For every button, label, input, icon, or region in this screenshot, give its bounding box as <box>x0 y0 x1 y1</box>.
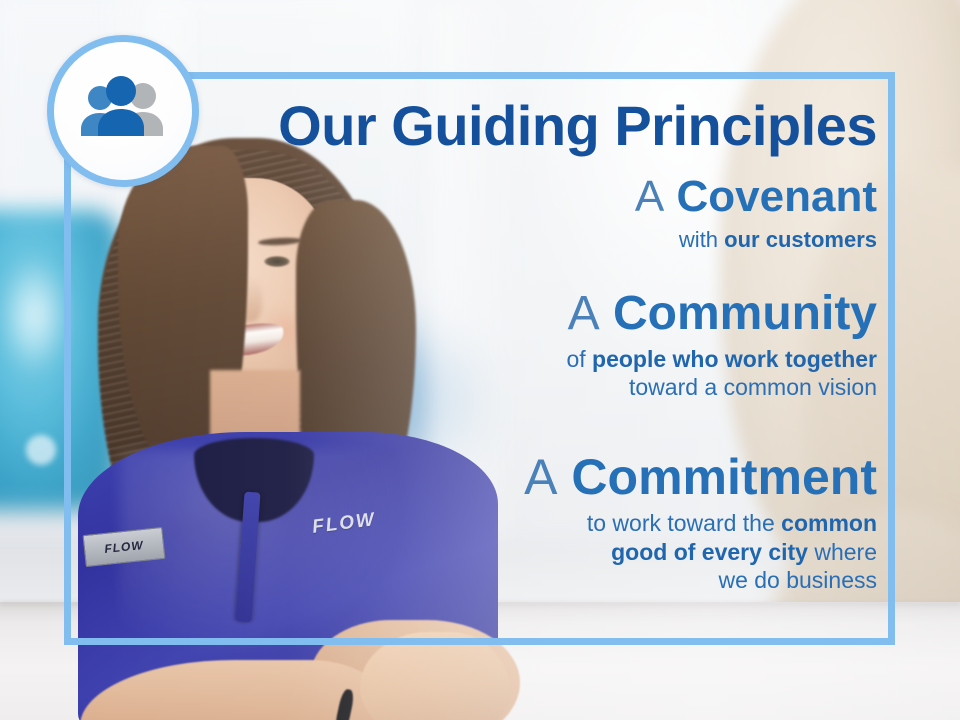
subtext-span: with <box>679 227 724 252</box>
principle-article: A <box>524 449 557 505</box>
subtext-span: to work toward the <box>587 510 781 536</box>
principle-block-commitment: A Commitment to work toward the common g… <box>524 452 877 595</box>
principle-block-community: A Community of people who work together … <box>566 290 877 402</box>
principle-article: A <box>568 287 600 340</box>
subtext-span: where <box>808 539 877 565</box>
subtext-line: with our customers <box>635 226 877 253</box>
page-title: Our Guiding Principles <box>64 98 877 154</box>
subtext-line: we do business <box>524 566 877 595</box>
principle-word: Community <box>613 287 877 340</box>
principle-subtext: with our customers <box>635 226 877 253</box>
subtext-span-bold: common <box>781 510 877 536</box>
subtext-line: of people who work together <box>566 345 877 374</box>
subtext-line: toward a common vision <box>566 373 877 402</box>
principle-heading: A Community <box>566 290 877 339</box>
employee-hands <box>360 632 510 720</box>
subtext-line: to work toward the common <box>524 509 877 538</box>
guiding-principles-graphic: FLOW FLOW <box>0 0 960 720</box>
principle-subtext: of people who work together toward a com… <box>566 345 877 402</box>
principle-block-covenant: A Covenant with our customers <box>635 175 877 253</box>
subtext-span-bold: our customers <box>724 227 877 252</box>
text-content: Our Guiding Principles A Covenant with o… <box>64 72 895 645</box>
principle-word: Covenant <box>677 172 877 221</box>
principle-subtext: to work toward the common good of every … <box>524 509 877 595</box>
principle-article: A <box>635 172 664 221</box>
subtext-span-bold: good of every city <box>611 539 808 565</box>
subtext-line: good of every city where <box>524 538 877 567</box>
principle-word: Commitment <box>571 449 877 505</box>
subtext-span: we do business <box>718 567 877 593</box>
principle-heading: A Commitment <box>524 452 877 503</box>
subtext-span: toward a common vision <box>629 374 877 400</box>
principle-heading: A Covenant <box>635 175 877 220</box>
subtext-span: of <box>566 346 592 372</box>
subtext-span-bold: people who work together <box>592 346 877 372</box>
